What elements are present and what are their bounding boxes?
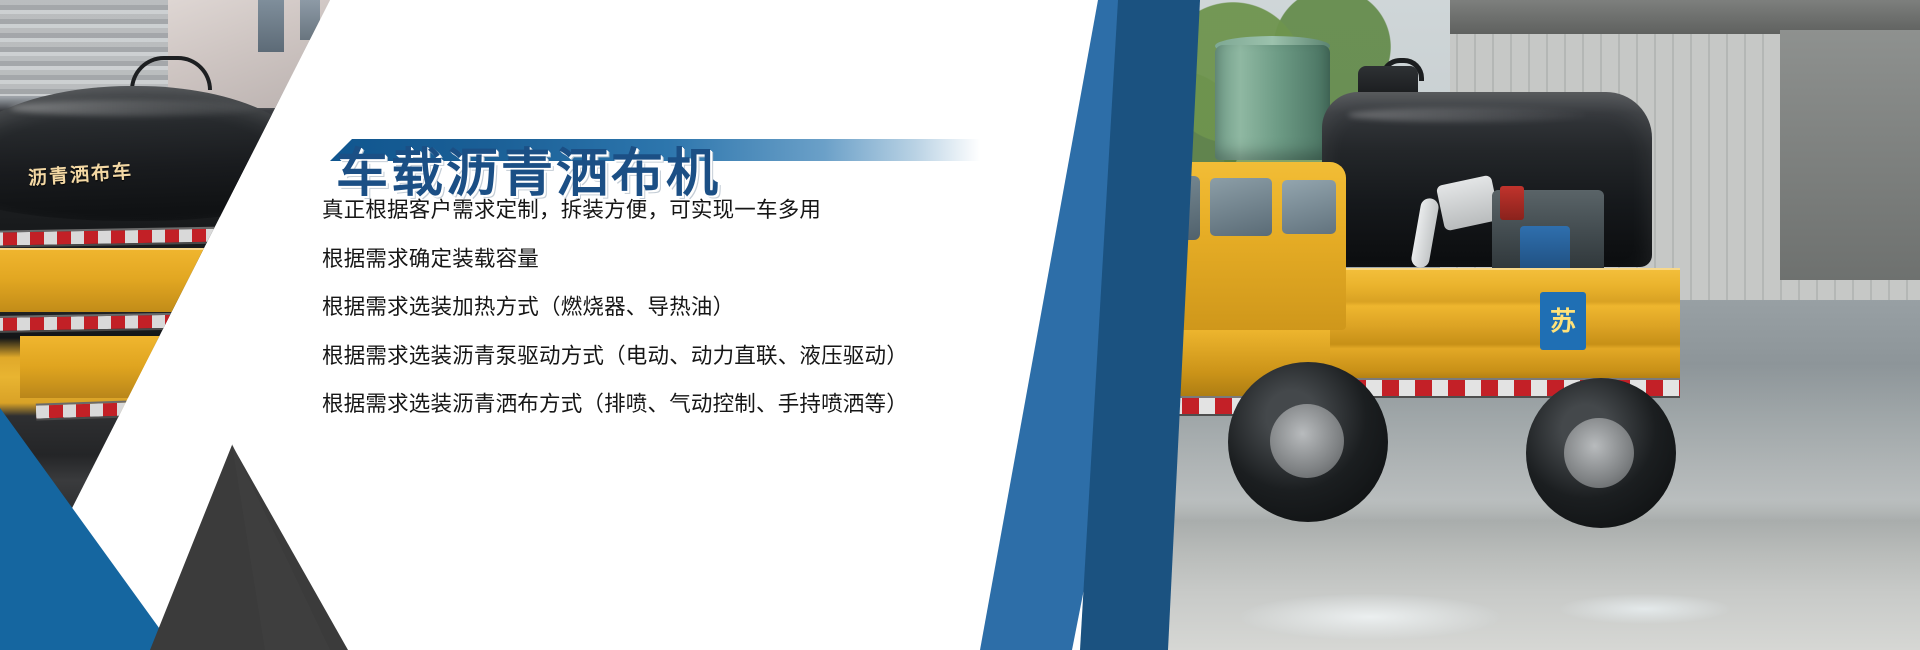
engine-part-blue [1520, 226, 1570, 272]
right-product-photo: 苏 [1140, 0, 1920, 650]
green-storage-tank [1215, 45, 1330, 160]
tank-highlight [1348, 108, 1588, 122]
feature-item: 根据需求选装加热方式（燃烧器、导热油） [322, 297, 962, 319]
water-puddle [1240, 594, 1500, 640]
wheel-hub [1564, 418, 1634, 488]
feature-item: 根据需求选装沥青洒布方式（排喷、气动控制、手持喷洒等） [322, 394, 962, 416]
feature-item: 真正根据客户需求定制，拆装方便，可实现一车多用 [322, 200, 962, 222]
feature-item: 根据需求选装沥青泵驱动方式（电动、动力直联、液压驱动） [322, 346, 962, 368]
engine-part-red [1500, 186, 1524, 220]
truck-bed [1290, 268, 1680, 380]
cab-window [1210, 178, 1272, 236]
building-wall-dark [1780, 30, 1920, 280]
feature-list: 真正根据客户需求定制，拆装方便，可实现一车多用 根据需求确定装载容量 根据需求选… [322, 190, 962, 443]
building-roof [1440, 0, 1920, 34]
banner-stage: 沥青洒布车 苏 [0, 0, 1920, 650]
feature-item: 根据需求确定装载容量 [322, 249, 962, 271]
wheel-hub [1270, 404, 1344, 478]
cab-window [1282, 180, 1336, 234]
water-puddle [1560, 594, 1730, 624]
truck-logo-badge: 苏 [1540, 292, 1586, 350]
content-layer: 车载沥青洒布机 真正根据客户需求定制，拆装方便，可实现一车多用 根据需求确定装载… [0, 0, 1160, 650]
